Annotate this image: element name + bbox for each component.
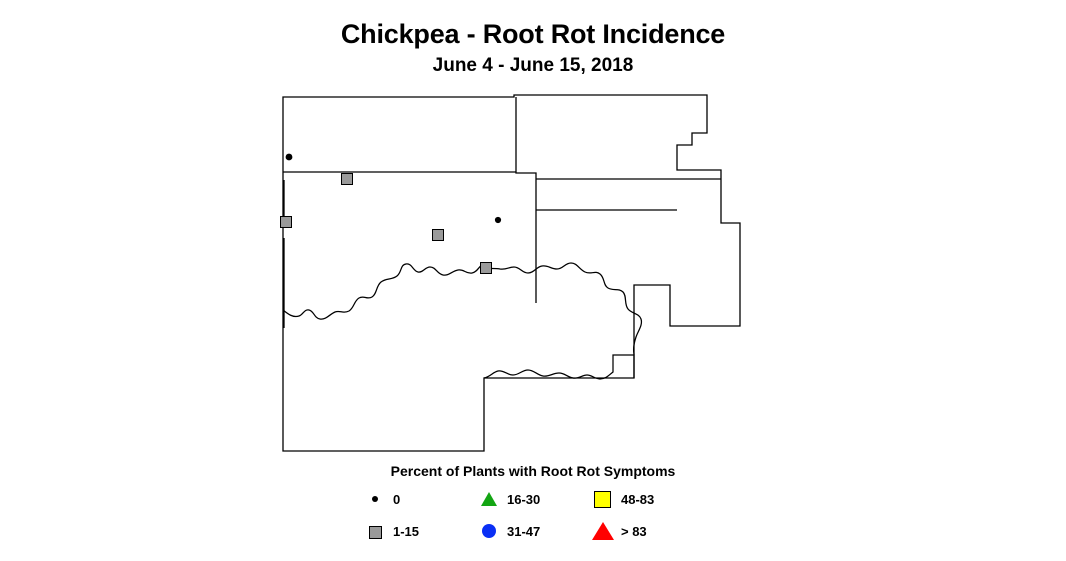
map-canvas	[0, 88, 1066, 463]
small-black-dot-glyph	[372, 496, 378, 502]
blue-circle-icon	[477, 520, 503, 542]
blue-circle-glyph	[482, 524, 496, 538]
title-block: Chickpea - Root Rot Incidence June 4 - J…	[0, 18, 1066, 78]
yellow-square-icon	[591, 488, 617, 510]
red-triangle-icon	[591, 520, 617, 542]
small-black-dot-icon	[363, 488, 389, 510]
legend-item-label: 1-15	[393, 524, 419, 539]
map-boundaries	[0, 88, 1066, 463]
page-title: Chickpea - Root Rot Incidence	[0, 18, 1066, 50]
data-point-zero[interactable]	[495, 217, 501, 223]
legend-item-label: 48-83	[621, 492, 654, 507]
state-outline-group	[283, 95, 740, 451]
legend-entries: 01-1516-3031-4748-83> 83	[363, 488, 703, 550]
legend: Percent of Plants with Root Rot Symptoms…	[0, 462, 1066, 550]
legend-item[interactable]: 48-83	[591, 488, 654, 510]
state-outline-path	[283, 95, 740, 451]
legend-item[interactable]: 16-30	[477, 488, 540, 510]
yellow-square-glyph	[594, 491, 611, 508]
gray-square-icon	[363, 520, 389, 542]
legend-item[interactable]: > 83	[591, 520, 647, 542]
legend-item[interactable]: 0	[363, 488, 400, 510]
data-point-low[interactable]	[433, 230, 444, 241]
legend-item-label: 31-47	[507, 524, 540, 539]
data-point-low[interactable]	[481, 263, 492, 274]
map-figure: Chickpea - Root Rot Incidence June 4 - J…	[0, 0, 1066, 561]
data-point-zero[interactable]	[286, 154, 293, 161]
legend-item[interactable]: 1-15	[363, 520, 419, 542]
data-point-low[interactable]	[342, 174, 353, 185]
legend-title: Percent of Plants with Root Rot Symptoms	[0, 462, 1066, 480]
gray-square-glyph	[369, 526, 382, 539]
green-triangle-icon	[477, 488, 503, 510]
legend-item[interactable]: 31-47	[477, 520, 540, 542]
green-triangle-glyph	[481, 492, 497, 506]
legend-item-label: 16-30	[507, 492, 540, 507]
page-subtitle: June 4 - June 15, 2018	[0, 54, 1066, 78]
red-triangle-glyph	[592, 522, 614, 540]
data-point-low[interactable]	[281, 217, 292, 228]
legend-item-label: > 83	[621, 524, 647, 539]
legend-item-label: 0	[393, 492, 400, 507]
